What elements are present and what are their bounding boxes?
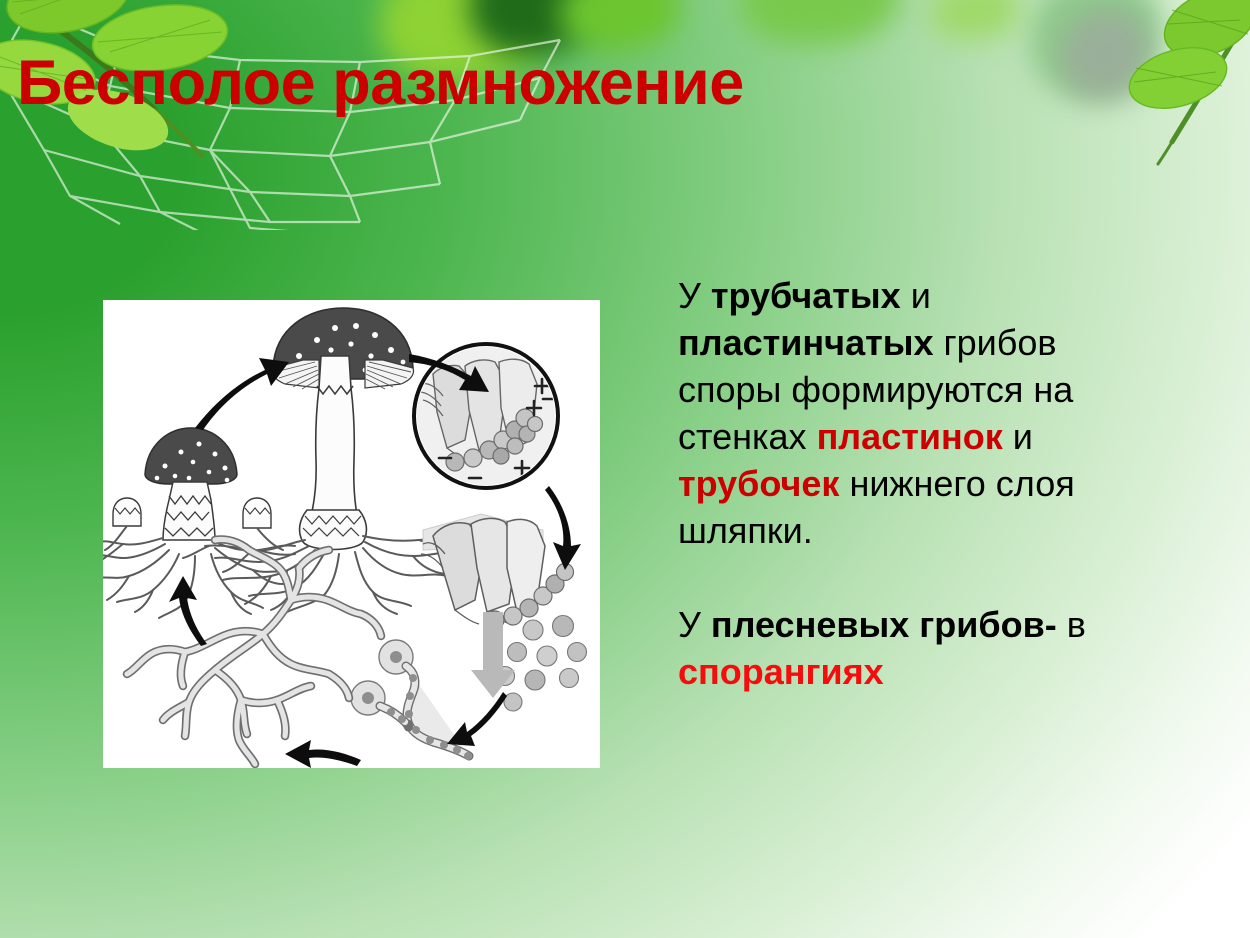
- page-title: Бесполое размножение: [17, 50, 744, 116]
- fungus-life-cycle-illustration: [103, 300, 600, 768]
- paragraph-mold-fungi: У плесневых грибов- в спорангиях: [678, 601, 1158, 695]
- p1-seg1: У: [678, 275, 711, 316]
- fungus-life-cycle-figure: [103, 300, 600, 768]
- p1-seg7: и: [1003, 416, 1033, 457]
- blurred-leaf-decor-6: [1060, 10, 1150, 100]
- blurred-leaf-decor-7: [930, 0, 1020, 40]
- p2-seg1: У: [678, 604, 711, 645]
- paragraph-tubular-lamellar: У трубчатых и пластинчатых грибов споры …: [678, 272, 1158, 554]
- blurred-leaf-decor-2: [470, 0, 600, 55]
- body-text: У трубчатых и пластинчатых грибов споры …: [678, 272, 1158, 695]
- p1-seg6-highlight: пластинок: [817, 416, 1003, 457]
- p2-seg4-highlight: спорангиях: [678, 651, 884, 692]
- p1-seg4-bold: пластинчатых: [678, 322, 933, 363]
- p1-seg8-highlight: трубочек: [678, 463, 839, 504]
- p1-seg2-bold: трубчатых: [711, 275, 901, 316]
- leaf-branch-top-right-icon: [1080, 0, 1250, 190]
- blurred-leaf-decor-3: [560, 0, 680, 50]
- p2-seg2-bold: плесневых грибов-: [711, 604, 1057, 645]
- slide: Бесполое размножение: [0, 0, 1250, 938]
- p1-seg3: и: [901, 275, 931, 316]
- blurred-leaf-decor-5: [1030, 0, 1160, 95]
- p2-seg3: в: [1057, 604, 1086, 645]
- blurred-leaf-decor-4: [740, 0, 900, 45]
